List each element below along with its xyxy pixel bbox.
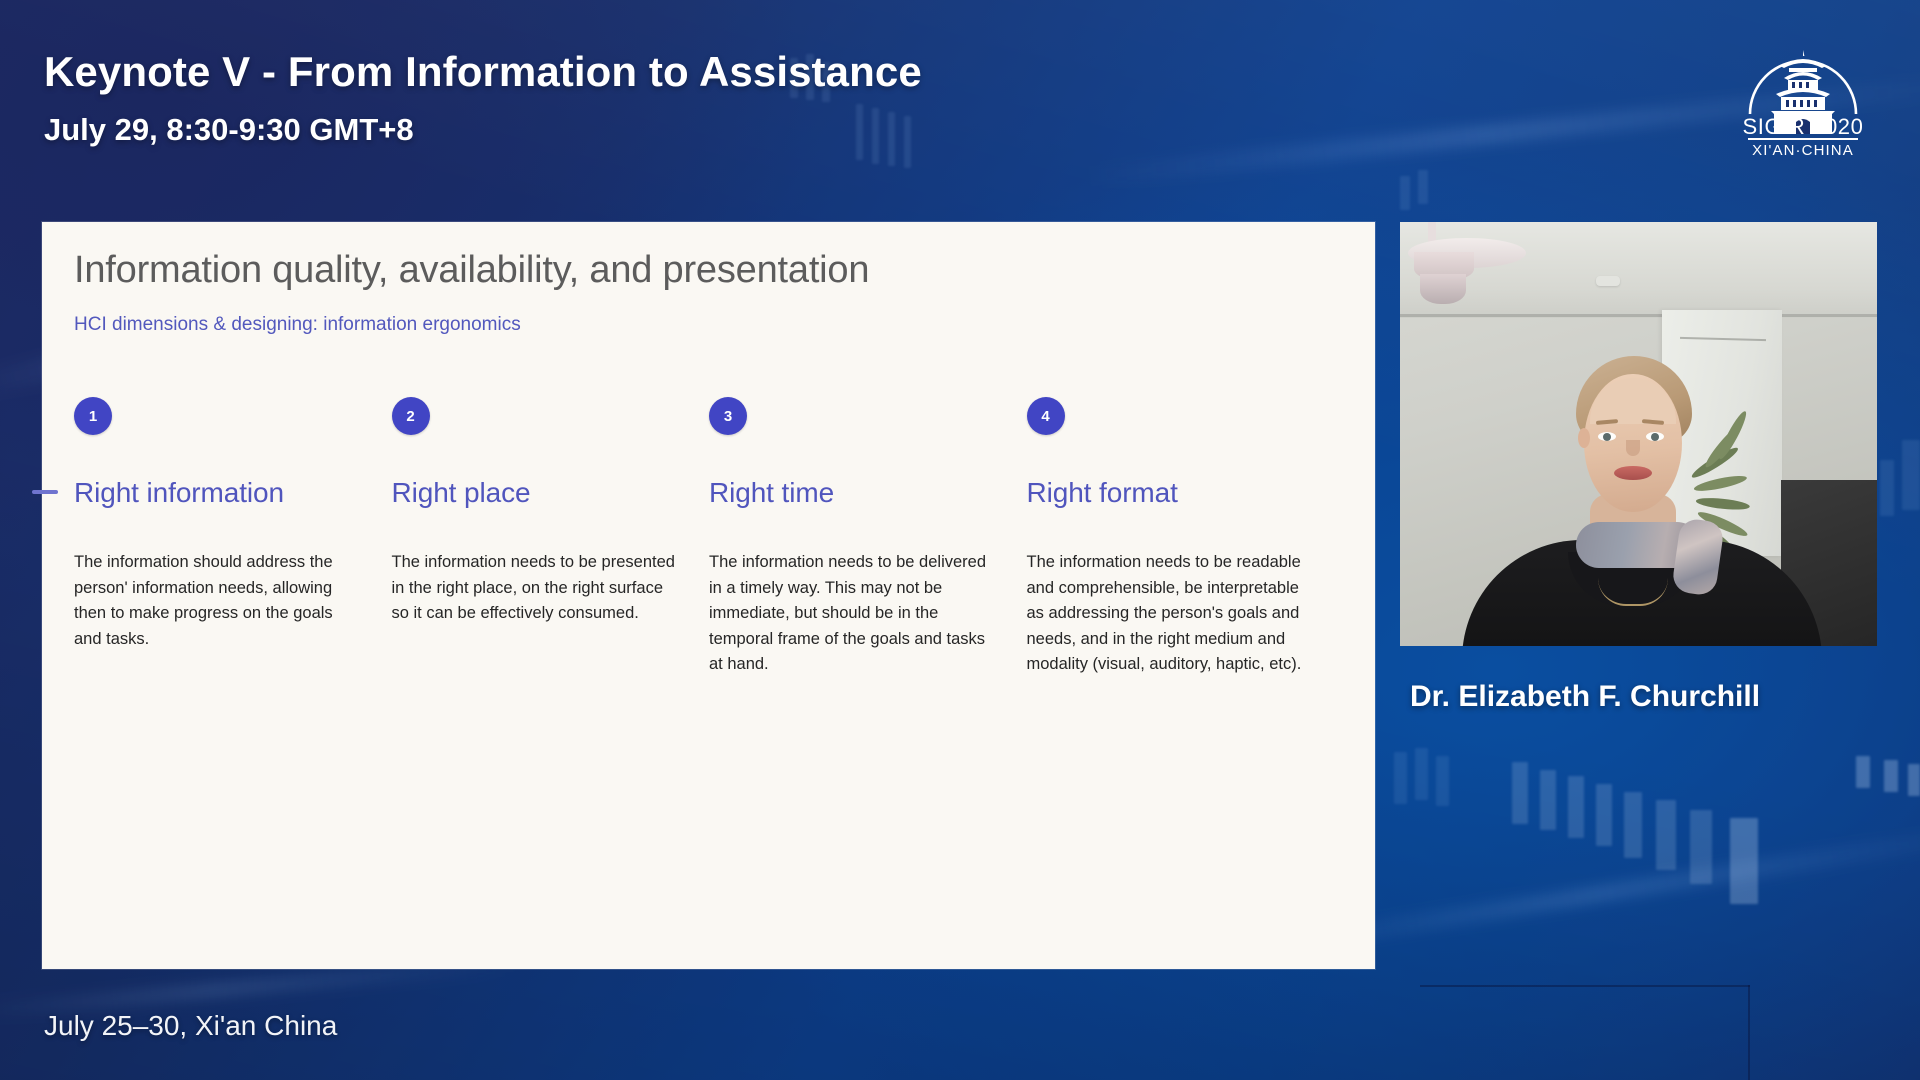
slide-column: 4 Right format The information needs to … xyxy=(1027,397,1345,678)
slide-columns: 1 Right information The information shou… xyxy=(74,397,1344,678)
step-number-badge: 1 xyxy=(74,397,112,435)
sigir-logo: . SIGIR 2020 XI'AN·CHINA xyxy=(1734,30,1872,158)
slide-column: 3 Right time The information needs to be… xyxy=(709,397,1027,678)
speaker-eye xyxy=(1646,432,1664,441)
slide-column: 2 Right place The information needs to b… xyxy=(392,397,710,678)
step-number-badge: 3 xyxy=(709,397,747,435)
speaker-eye xyxy=(1598,432,1616,441)
slide-subheading: HCI dimensions & designing: information … xyxy=(74,314,521,336)
column-title: Right format xyxy=(1027,477,1315,509)
column-body: The information needs to be delivered in… xyxy=(709,550,997,678)
speaker-ear xyxy=(1578,428,1590,448)
smoke-detector xyxy=(1596,276,1620,286)
page-title: Keynote V - From Information to Assistan… xyxy=(44,48,922,96)
session-time: July 29, 8:30-9:30 GMT+8 xyxy=(44,112,414,148)
column-body: The information should address the perso… xyxy=(74,550,362,652)
column-body: The information needs to be readable and… xyxy=(1027,550,1315,678)
conference-dates-footer: July 25–30, Xi'an China xyxy=(44,1010,337,1042)
speaker-mouth xyxy=(1614,466,1652,480)
step-number-badge: 2 xyxy=(392,397,430,435)
video-ceiling-edge xyxy=(1400,314,1877,317)
step-number-badge: 4 xyxy=(1027,397,1065,435)
logo-location: XI'AN·CHINA xyxy=(1734,142,1872,159)
slide-heading: Information quality, availability, and p… xyxy=(74,249,869,292)
column-body: The information needs to be presented in… xyxy=(392,550,680,627)
slide-accent-dash xyxy=(32,490,58,494)
column-title: Right place xyxy=(392,477,680,509)
logo-name: SIGIR 2020 xyxy=(1734,114,1872,140)
column-title: Right information xyxy=(74,477,362,509)
slide-column: 1 Right information The information shou… xyxy=(74,397,392,678)
header: Keynote V - From Information to Assistan… xyxy=(0,0,1920,205)
speaker-video-feed[interactable] xyxy=(1400,222,1877,646)
speaker-name-label: Dr. Elizabeth F. Churchill xyxy=(1410,680,1870,714)
logo-divider xyxy=(1748,138,1858,140)
column-title: Right time xyxy=(709,477,997,509)
speaker-nose xyxy=(1626,440,1640,456)
presentation-slide[interactable]: Information quality, availability, and p… xyxy=(42,222,1375,969)
